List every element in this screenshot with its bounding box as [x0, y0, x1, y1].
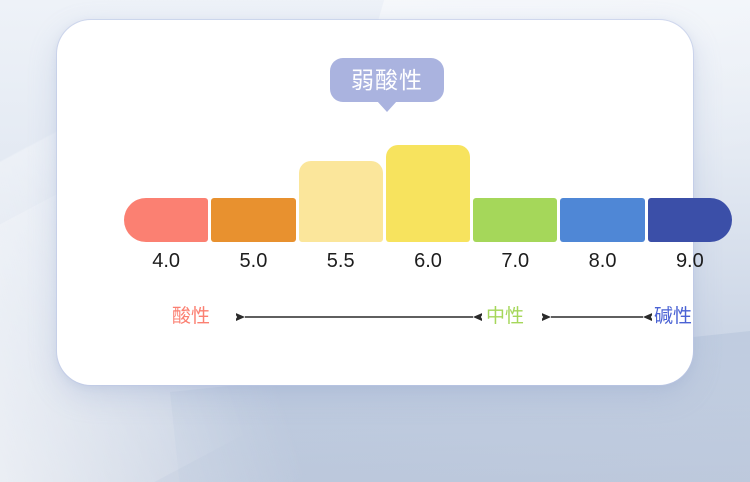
ph-segment-6-0[interactable]: [386, 145, 470, 242]
ph-segment-5-5[interactable]: [299, 161, 383, 242]
ph-tick-9-0: 9.0: [648, 248, 732, 274]
ph-scale-bar: [124, 142, 732, 242]
ph-tick-4-0: 4.0: [124, 248, 208, 274]
legend-label-acidic: 酸性: [172, 301, 210, 333]
ph-tick-7-0: 7.0: [473, 248, 557, 274]
ph-segment-5-0[interactable]: [211, 198, 295, 242]
ph-tick-6-0: 6.0: [386, 248, 470, 274]
double-arrow-acidic-to-neutral-icon: [236, 309, 482, 325]
ph-segment-4-0[interactable]: [124, 198, 208, 242]
ph-segment-7-0[interactable]: [473, 198, 557, 242]
legend-label-alkaline: 碱性: [654, 301, 692, 333]
ph-status-badge[interactable]: 弱酸性: [330, 58, 444, 122]
ph-tick-labels: 4.05.05.56.07.08.09.0: [124, 248, 732, 274]
badge-pointer-down-icon: [377, 101, 397, 112]
ph-segment-9-0[interactable]: [648, 198, 732, 242]
legend-label-neutral: 中性: [486, 301, 524, 333]
ph-legend-row: 酸性 中性 碱性: [124, 301, 732, 333]
ph-tick-5-5: 5.5: [299, 248, 383, 274]
ph-scale-card: 弱酸性 4.05.05.56.07.08.09.0 酸性 中性 碱性: [57, 20, 693, 385]
ph-tick-5-0: 5.0: [211, 248, 295, 274]
ph-segment-8-0[interactable]: [560, 198, 644, 242]
badge-bubble: 弱酸性: [330, 58, 444, 102]
badge-label: 弱酸性: [351, 69, 423, 92]
ph-tick-8-0: 8.0: [560, 248, 644, 274]
double-arrow-neutral-to-alkaline-icon: [542, 309, 652, 325]
